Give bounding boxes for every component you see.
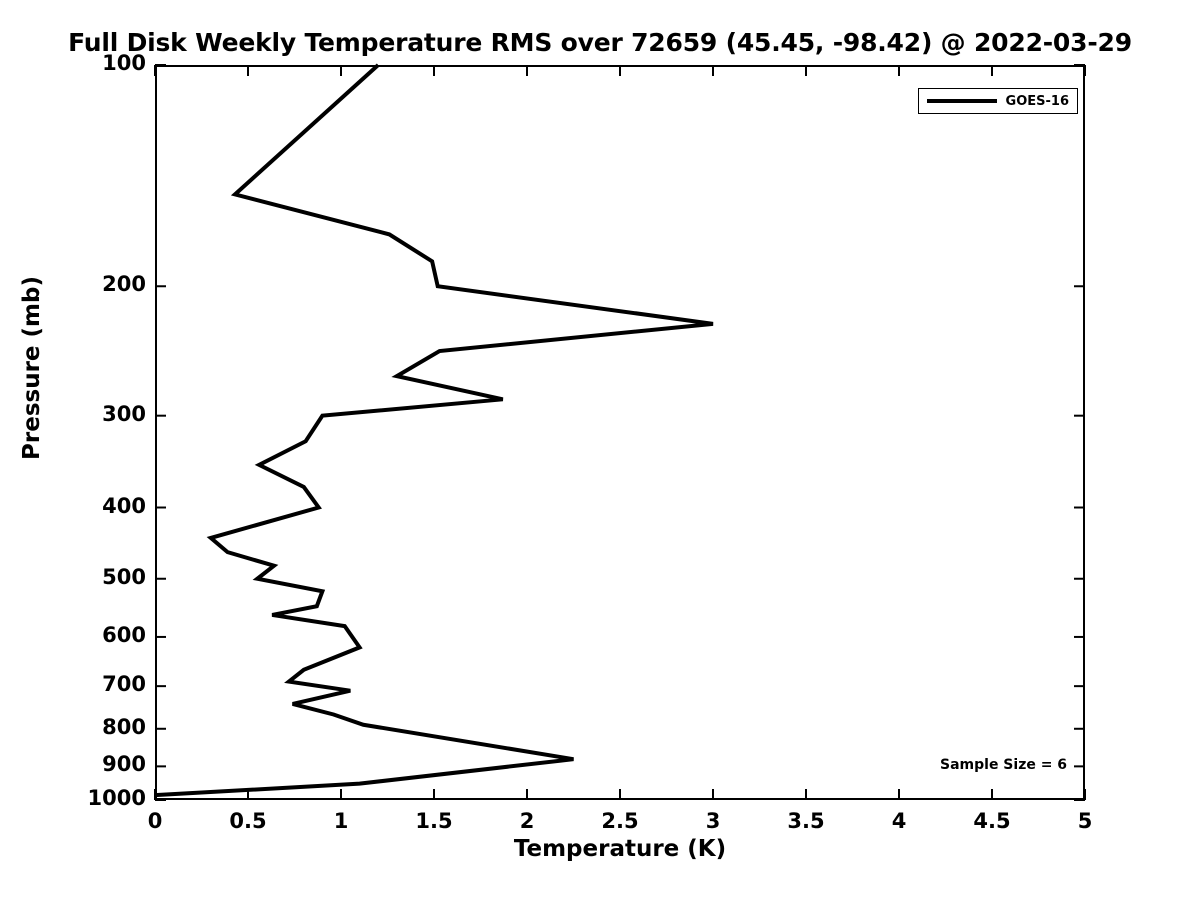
y-tick-label: 400 bbox=[51, 494, 146, 518]
x-tick-label: 4.5 bbox=[952, 809, 1032, 833]
x-tick-label: 2.5 bbox=[580, 809, 660, 833]
x-tick-label: 1.5 bbox=[394, 809, 474, 833]
y-tick-label: 100 bbox=[51, 51, 146, 75]
y-tick-label: 700 bbox=[51, 672, 146, 696]
data-line-goes-16 bbox=[155, 65, 713, 795]
y-tick-label: 600 bbox=[51, 623, 146, 647]
x-tick-label: 1 bbox=[301, 809, 381, 833]
x-tick-label: 0 bbox=[115, 809, 195, 833]
y-tick-label: 800 bbox=[51, 715, 146, 739]
data-series-group bbox=[155, 65, 713, 795]
sample-size-annotation: Sample Size = 6 bbox=[940, 757, 1120, 773]
legend: GOES-16 bbox=[918, 88, 1078, 114]
legend-label-goes-16: GOES-16 bbox=[1006, 94, 1069, 109]
y-tick-label: 300 bbox=[51, 402, 146, 426]
y-tick-label: 900 bbox=[51, 752, 146, 776]
y-tick-label: 1000 bbox=[51, 786, 146, 810]
x-tick-label: 0.5 bbox=[208, 809, 288, 833]
x-tick-label: 3 bbox=[673, 809, 753, 833]
x-tick-label: 3.5 bbox=[766, 809, 846, 833]
legend-line-swatch-goes-16 bbox=[927, 99, 997, 103]
y-tick-label: 500 bbox=[51, 565, 146, 589]
temperature-rms-figure: Full Disk Weekly Temperature RMS over 72… bbox=[0, 0, 1200, 900]
axis-ticks bbox=[155, 65, 1085, 800]
y-tick-label: 200 bbox=[51, 272, 146, 296]
x-tick-label: 5 bbox=[1045, 809, 1125, 833]
x-tick-label: 2 bbox=[487, 809, 567, 833]
x-tick-label: 4 bbox=[859, 809, 939, 833]
